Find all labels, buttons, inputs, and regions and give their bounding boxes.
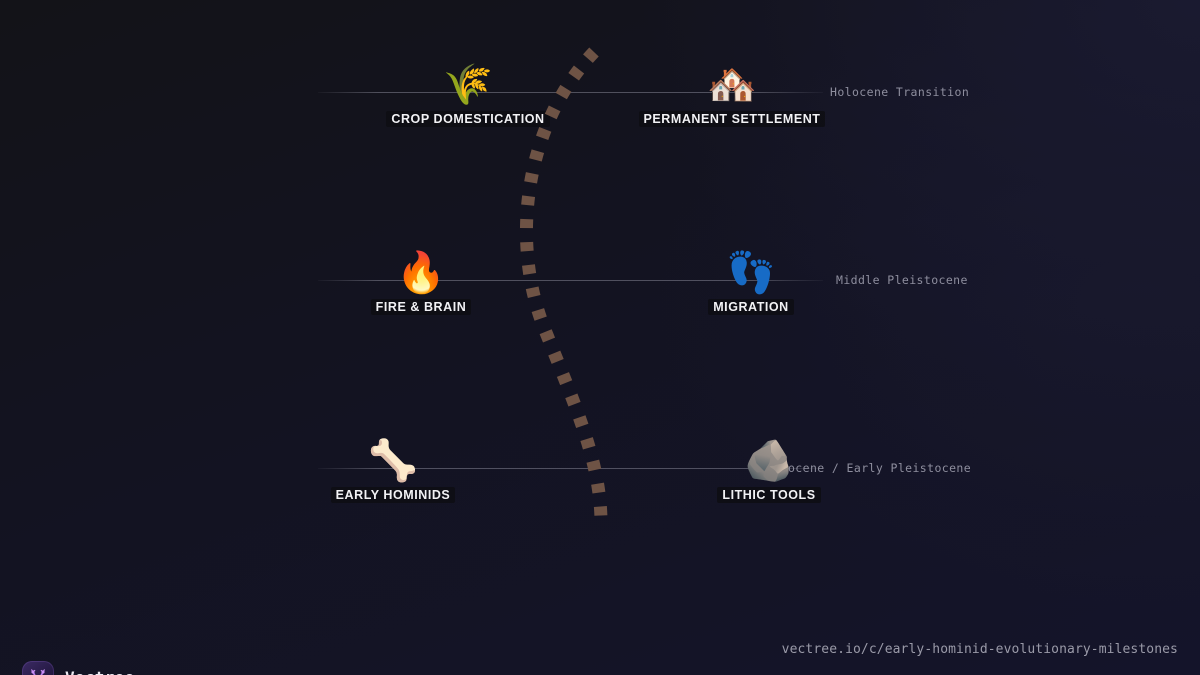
rock-icon: 🪨	[639, 438, 899, 484]
milestone-label: PERMANENT SETTLEMENT	[639, 111, 826, 127]
fire-icon: 🔥	[291, 250, 551, 296]
bone-icon: 🦴	[263, 438, 523, 484]
milestone-node[interactable]: 🪨LITHIC TOOLS	[639, 438, 899, 504]
milestone-node[interactable]: 🦴EARLY HOMINIDS	[263, 438, 523, 504]
vectree-sprout-icon	[22, 661, 54, 675]
milestone-label: FIRE & BRAIN	[371, 299, 472, 315]
source-url[interactable]: vectree.io/c/early-hominid-evolutionary-…	[782, 642, 1178, 657]
milestone-label: MIGRATION	[708, 299, 794, 315]
milestone-node[interactable]: 🔥FIRE & BRAIN	[291, 250, 551, 316]
milestone-label: CROP DOMESTICATION	[386, 111, 549, 127]
milestone-label: LITHIC TOOLS	[717, 487, 820, 503]
wheat-sheaf-icon: 🌾	[338, 62, 598, 108]
infographic-canvas: Holocene Transition🌾CROP DOMESTICATION🏘️…	[0, 0, 1200, 675]
brand[interactable]: Vectree	[22, 661, 135, 675]
milestone-node[interactable]: 🌾CROP DOMESTICATION	[338, 62, 598, 128]
milestone-node[interactable]: 🏘️PERMANENT SETTLEMENT	[602, 62, 862, 128]
brand-name: Vectree	[65, 668, 135, 675]
footer: Vectree Evolutionary biology of early ho…	[0, 661, 1200, 675]
houses-icon: 🏘️	[602, 62, 862, 108]
milestone-node[interactable]: 👣MIGRATION	[621, 250, 881, 316]
milestone-label: EARLY HOMINIDS	[331, 487, 456, 503]
footprints-icon: 👣	[621, 250, 881, 296]
dashed-evolution-path	[0, 0, 1200, 675]
